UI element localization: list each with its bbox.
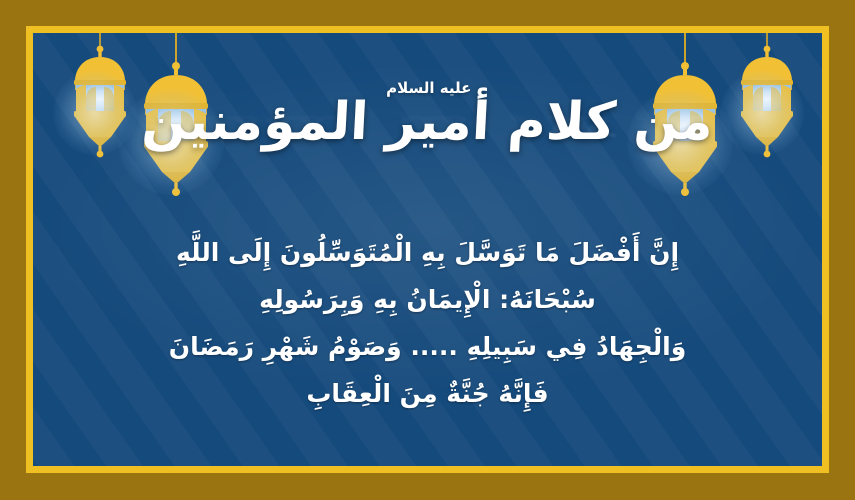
quote-line-1: إِنَّ أَفْضَلَ مَا تَوَسَّلَ بِهِ الْمُت… [57, 229, 798, 276]
calligraphy-reflection: من كلام أمير المؤمنين [30, 110, 822, 140]
quote-card: عليه السلام من كلام أمير المؤمنين من كلا… [0, 0, 855, 500]
quote-line-3: وَالْجِهَادُ فِي سَبِيلِهِ ..... وَصَوْم… [57, 323, 798, 370]
honorific-label: عليه السلام [387, 81, 472, 97]
heading-block: عليه السلام من كلام أمير المؤمنين من كلا… [33, 95, 822, 194]
quote-text-block: إِنَّ أَفْضَلَ مَا تَوَسَّلَ بِهِ الْمُت… [57, 229, 798, 417]
gold-frame: عليه السلام من كلام أمير المؤمنين من كلا… [26, 26, 829, 473]
quote-line-4: فَإِنَّهُ جُنَّةٌ مِنَ الْعِقَابِ [57, 370, 798, 417]
quote-line-2: سُبْحَانَهُ: الْإِيمَانُ بِهِ وَبِرَسُول… [57, 276, 798, 323]
